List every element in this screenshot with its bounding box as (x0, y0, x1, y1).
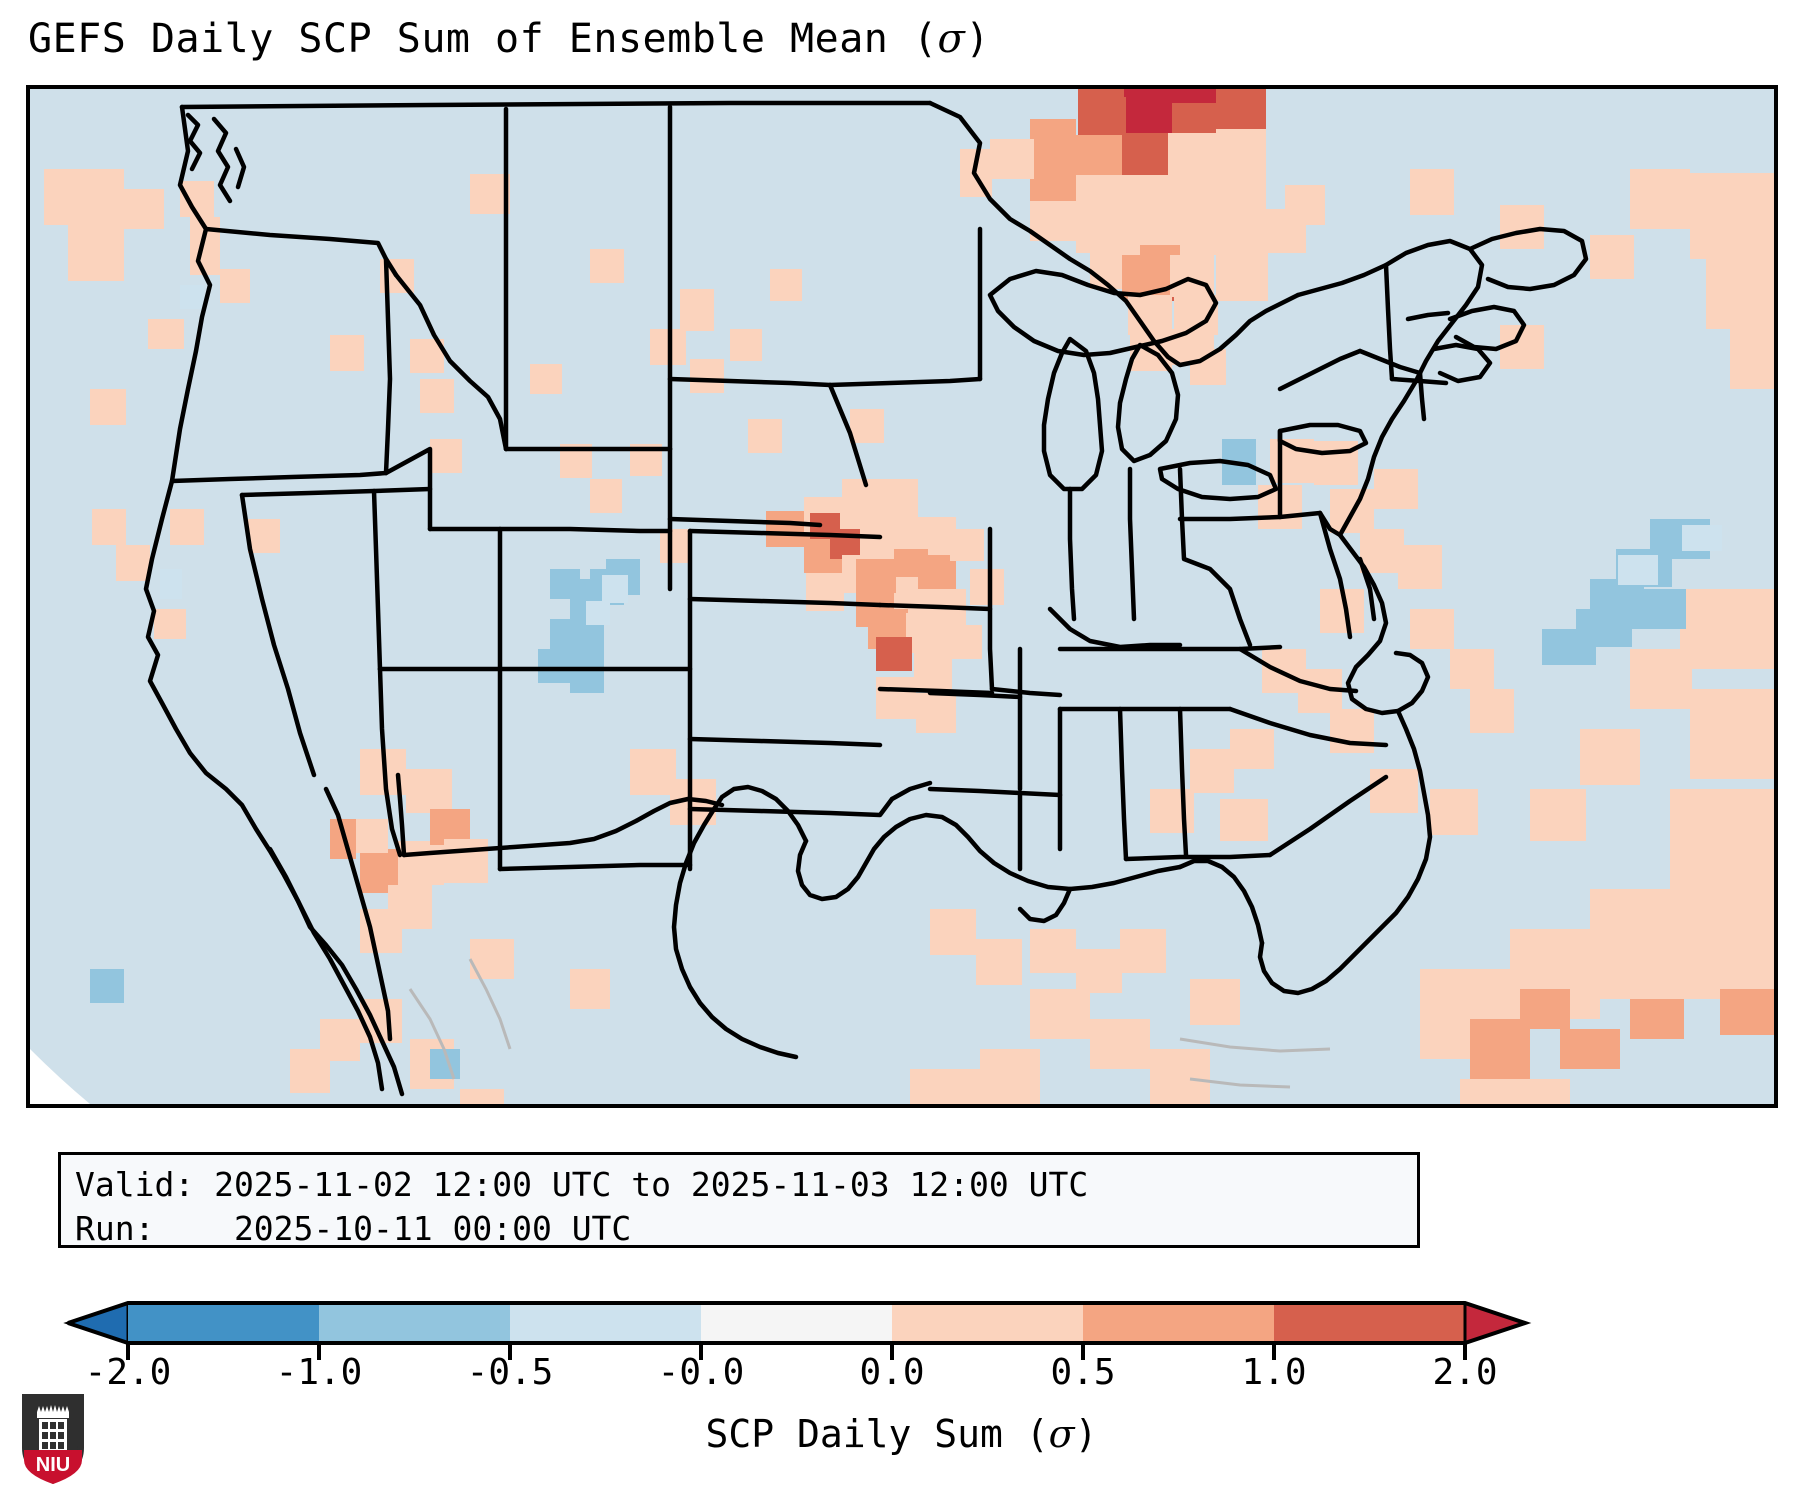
colorbar-segment-1-2 (1274, 1303, 1465, 1343)
run-time-text: Run: 2025-10-11 00:00 UTC (75, 1207, 1403, 1251)
map-axes[interactable] (26, 85, 1778, 1108)
colorbar-segment-neg2-neg1 (128, 1303, 319, 1343)
valid-period-text: Valid: 2025-11-02 12:00 UTC to 2025-11-0… (75, 1163, 1403, 1207)
colorbar-tick-label-5: 0.5 (1050, 1352, 1115, 1393)
niu-logo: NIU (18, 1388, 88, 1486)
colorbar-tick-label-2: -0.5 (467, 1352, 554, 1393)
page-title: GEFS Daily SCP Sum of Ensemble Mean (σ) (28, 16, 990, 62)
colorbar-tick-labels: -2.0 -1.0 -0.5 -0.0 0.0 0.5 1.0 2.0 (0, 1352, 1803, 1402)
colorbar-label-text: SCP Daily Sum ( (705, 1412, 1048, 1456)
logo-text: NIU (36, 1454, 70, 1476)
title-sigma-symbol: σ (938, 16, 966, 62)
figure-canvas: GEFS Daily SCP Sum of Ensemble Mean (σ) (0, 0, 1803, 1506)
colorbar-label-sigma-symbol: σ (1049, 1412, 1075, 1456)
title-suffix: ) (965, 16, 990, 62)
colorbar-axis-label: SCP Daily Sum (σ) (0, 1412, 1803, 1456)
title-text: GEFS Daily SCP Sum of Ensemble Mean ( (28, 16, 938, 62)
colorbar-tick-label-3: -0.0 (658, 1352, 745, 1393)
colorbar-segment-05-1 (1083, 1303, 1274, 1343)
colorbar-segment-neg1-neg05 (319, 1303, 510, 1343)
map-plot[interactable] (30, 89, 1774, 1104)
colorbar-svg[interactable] (0, 1290, 1803, 1360)
colorbar-segment-0-05 (892, 1303, 1083, 1343)
colorbar-segment-neg05-neg0 (510, 1303, 701, 1343)
colorbar-tick-label-1: -1.0 (276, 1352, 363, 1393)
colorbar-under-cap (68, 1303, 128, 1343)
colorbar-over-cap (1465, 1303, 1525, 1343)
colorbar-tick-label-0: -2.0 (85, 1352, 172, 1393)
colorbar-tick-label-4: 0.0 (859, 1352, 924, 1393)
colorbar[interactable] (0, 1290, 1803, 1360)
logo-castle-windows (42, 1422, 64, 1449)
colorbar-segment-neg0-0 (701, 1303, 892, 1343)
colorbar-tick-label-6: 1.0 (1241, 1352, 1306, 1393)
colorbar-label-suffix: ) (1075, 1412, 1098, 1456)
forecast-info-box: Valid: 2025-11-02 12:00 UTC to 2025-11-0… (58, 1152, 1420, 1248)
colorbar-tick-label-7: 2.0 (1432, 1352, 1497, 1393)
